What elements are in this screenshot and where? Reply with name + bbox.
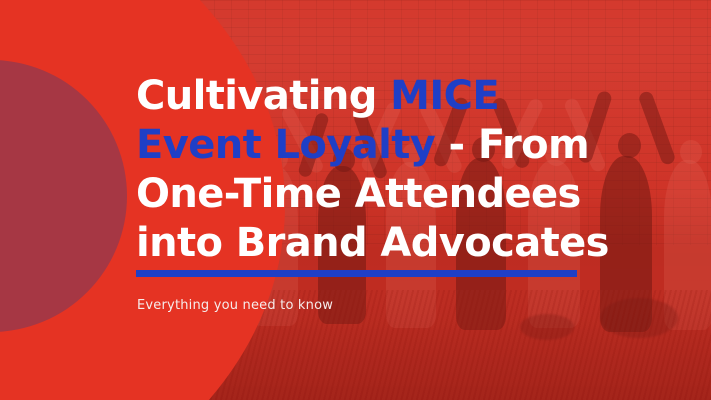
- slide-title: Cultivating MICE Event Loyalty - From On…: [136, 72, 609, 268]
- title-line-2: Event Loyalty - From: [136, 121, 609, 170]
- title-line-1-part-1: Cultivating: [136, 73, 390, 119]
- title-line-1: Cultivating MICE: [136, 72, 609, 121]
- title-line-2-part-2: - From: [435, 122, 589, 168]
- title-line-4: into Brand Advocates: [136, 219, 609, 268]
- title-line-1-highlight: MICE: [390, 73, 499, 119]
- title-line-2-highlight: Event Loyalty: [136, 122, 435, 168]
- title-line-3: One-Time Attendees: [136, 170, 609, 219]
- slide-canvas: Cultivating MICE Event Loyalty - From On…: [0, 0, 711, 400]
- slide-subtitle: Everything you need to know: [137, 298, 333, 313]
- slide-content: Cultivating MICE Event Loyalty - From On…: [136, 0, 696, 400]
- title-underline-bar: [136, 270, 577, 277]
